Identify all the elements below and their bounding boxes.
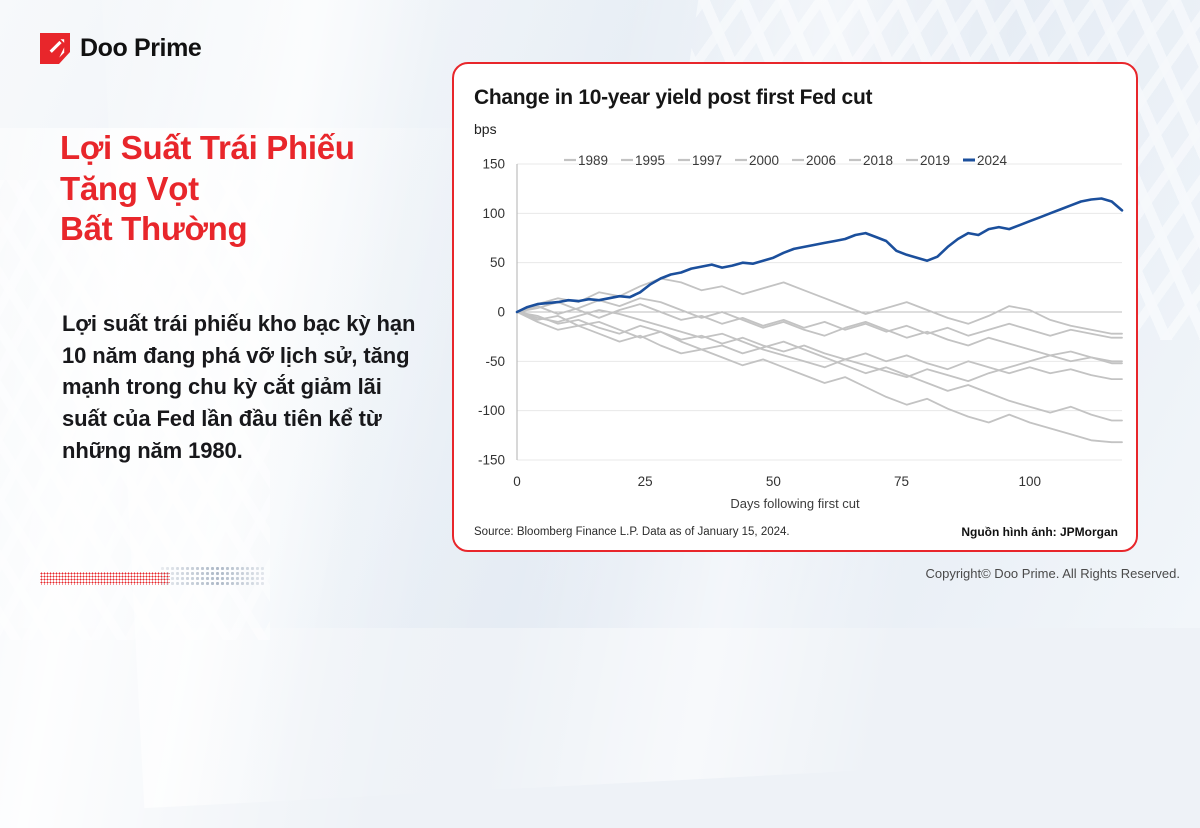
chart-series-1989: [517, 310, 1122, 381]
legend-label-2019: 2019: [920, 153, 950, 168]
chart-title: Change in 10-year yield post first Fed c…: [474, 86, 872, 110]
legend-label-2018: 2018: [863, 153, 893, 168]
doo-prime-flag-icon: [40, 33, 70, 64]
brand-name: Doo Prime: [80, 34, 201, 63]
chart-plot-area: 150100500-50-100-15002550751001989199519…: [454, 150, 1138, 510]
chart-y-unit-label: bps: [474, 121, 497, 137]
left-content-column: Doo Prime Lợi Suất Trái Phiếu Tăng Vọt B…: [0, 0, 450, 628]
brand-logo: Doo Prime: [40, 33, 201, 64]
chart-card: Change in 10-year yield post first Fed c…: [452, 62, 1138, 552]
decorative-dot-bar: [40, 566, 260, 590]
legend-label-2000: 2000: [749, 153, 779, 168]
chart-y-tick-label: -100: [478, 403, 505, 418]
legend-label-1989: 1989: [578, 153, 608, 168]
copyright-notice: Copyright© Doo Prime. All Rights Reserve…: [925, 566, 1180, 581]
chart-source-note: Source: Bloomberg Finance L.P. Data as o…: [474, 526, 790, 538]
chart-series-1997: [517, 312, 1122, 379]
chart-series-2019: [517, 302, 1122, 338]
body-paragraph: Lợi suất trái phiếu kho bạc kỳ hạn 10 nă…: [62, 308, 422, 466]
chart-y-tick-label: -150: [478, 453, 505, 468]
chart-x-tick-label: 25: [638, 474, 653, 489]
chart-x-tick-label: 50: [766, 474, 781, 489]
chart-x-tick-label: 0: [513, 474, 521, 489]
chart-x-tick-label: 100: [1018, 474, 1041, 489]
line-chart-svg: 150100500-50-100-15002550751001989199519…: [454, 150, 1138, 510]
headline-line-3: Bất Thường: [60, 209, 440, 250]
image-credit-note: Nguồn hình ảnh: JPMorgan: [961, 525, 1118, 539]
decorative-dot-bar-gray: [160, 566, 265, 585]
chart-y-tick-label: 50: [490, 255, 505, 270]
headline-line-2: Tăng Vọt: [60, 169, 440, 210]
chart-series-2018: [517, 312, 1122, 442]
chart-y-tick-label: -50: [485, 354, 505, 369]
legend-label-1997: 1997: [692, 153, 722, 168]
chart-y-tick-label: 100: [482, 206, 505, 221]
legend-label-2024: 2024: [977, 153, 1008, 168]
headline-line-1: Lợi Suất Trái Phiếu: [60, 128, 440, 169]
legend-label-2006: 2006: [806, 153, 836, 168]
chart-legend: 19891995199720002006201820192024: [564, 153, 1008, 168]
chart-x-tick-label: 75: [894, 474, 909, 489]
legend-label-1995: 1995: [635, 153, 665, 168]
decorative-dot-bar-red: [40, 572, 170, 585]
chart-y-tick-label: 0: [497, 305, 505, 320]
chart-x-axis-title: Days following first cut: [454, 496, 1136, 511]
chart-series-2024: [517, 199, 1122, 313]
chart-y-tick-label: 150: [482, 157, 505, 172]
page-title: Lợi Suất Trái Phiếu Tăng Vọt Bất Thường: [60, 128, 440, 250]
